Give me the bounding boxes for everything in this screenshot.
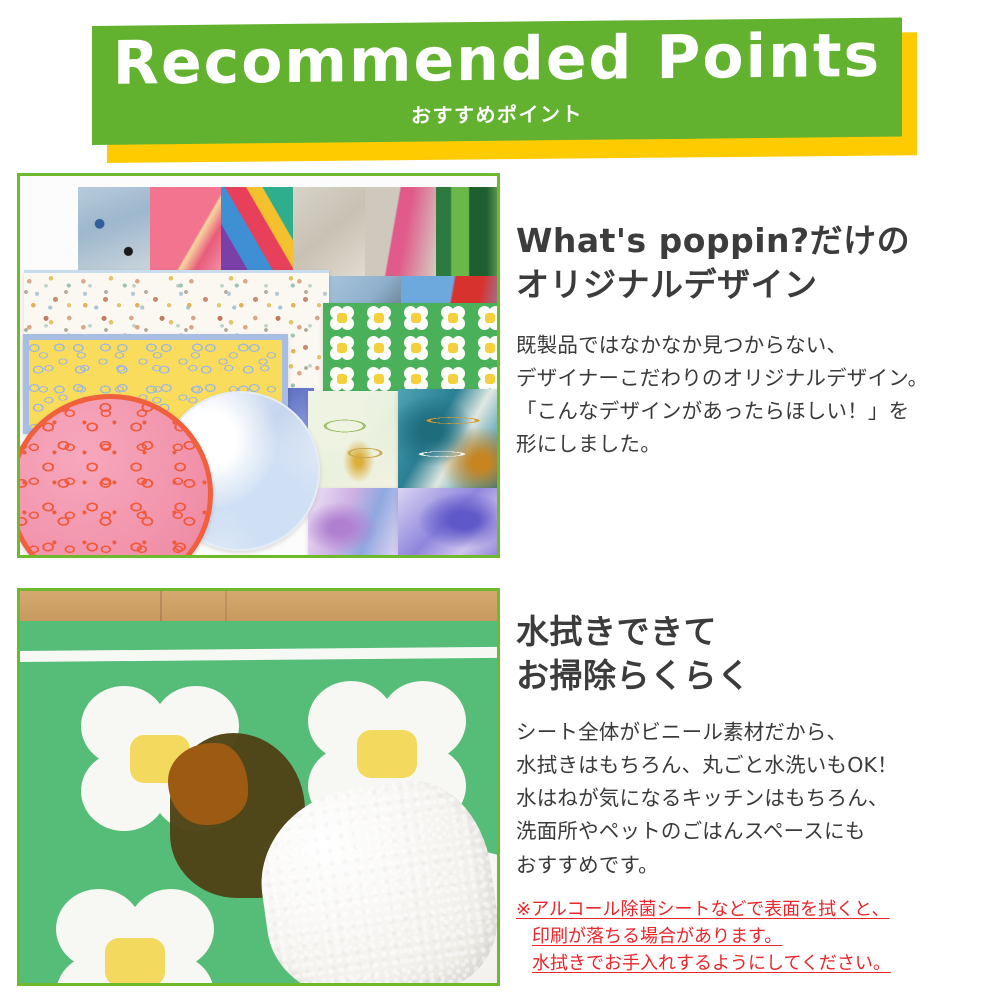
flower-cell <box>397 333 434 363</box>
coffee-spill-highlight <box>168 743 248 825</box>
banner-text-group: Recommended Points おすすめポイント <box>92 18 902 145</box>
flower-cell <box>360 364 397 394</box>
flower-icon <box>404 306 428 330</box>
wipe-scene-canvas <box>20 591 497 983</box>
spacer <box>516 307 986 329</box>
wood-plank-seam <box>225 591 227 621</box>
spacer <box>516 882 986 896</box>
section-wipe-clean: 水拭きできて お掃除らくらく シート全体がビニール素材だから、 水拭きはもちろん… <box>0 588 1000 988</box>
flower-icon <box>478 306 501 330</box>
green-flower-pattern-sheet <box>323 303 500 394</box>
graffiti-sheet-5 <box>365 187 437 279</box>
pale-green-marble-sheet <box>308 391 400 491</box>
wipe-body-line-2: 水拭きはもちろん、丸ごと水洗いもOK！ <box>516 749 986 782</box>
wipe-text-column: 水拭きできて お掃除らくらく シート全体がビニール素材だから、 水拭きはもちろん… <box>516 610 986 978</box>
flower-cell <box>360 303 397 333</box>
flower-cell <box>471 333 500 363</box>
flower-icon <box>441 336 465 360</box>
mat-flower-icon <box>50 889 220 983</box>
design-body-line-2: デザイナーこだわりのオリジナルデザイン。 <box>516 362 986 395</box>
wipe-note-line-2: 印刷が落ちる場合があります。 <box>516 923 986 950</box>
flower-icon <box>330 306 354 330</box>
flower-icon <box>404 367 428 391</box>
flower-cell <box>434 303 471 333</box>
flower-icon <box>330 336 354 360</box>
spacer <box>516 698 986 716</box>
flower-cell <box>397 303 434 333</box>
pink-squiggle-round-mat <box>17 394 213 558</box>
flower-icon <box>367 336 391 360</box>
wipe-body-line-3: 水はねが気になるキッチンはもちろん、 <box>516 782 986 815</box>
design-text-column: What's poppin?だけの オリジナルデザイン 既製品ではなかなか見つか… <box>516 219 986 462</box>
purple-marble-sheet <box>308 488 400 558</box>
section-original-design: What's poppin?だけの オリジナルデザイン 既製品ではなかなか見つか… <box>0 173 1000 563</box>
wipe-note-line-1: ※アルコール除菌シートなどで表面を拭くと、 <box>516 896 986 923</box>
flower-icon <box>404 336 428 360</box>
graffiti-sheet-6 <box>436 187 500 279</box>
flower-cell <box>323 333 360 363</box>
blue-violet-marble-sheet <box>398 488 500 558</box>
design-heading-line-2: オリジナルデザイン <box>516 263 986 307</box>
flower-cell <box>323 303 360 333</box>
graffiti-sheet-row-top <box>78 187 500 279</box>
wipe-note-line-3: 水拭きでお手入れするようにしてください。 <box>516 950 986 977</box>
wipe-heading-line-2: お掃除らくらく <box>516 654 986 698</box>
teal-gold-marble-sheet <box>398 389 500 494</box>
design-body-line-1: 既製品ではなかなか見つからない、 <box>516 329 986 362</box>
flower-icon <box>367 367 391 391</box>
collage-canvas <box>20 176 497 555</box>
wipe-heading-line-1: 水拭きできて <box>516 610 986 654</box>
graffiti-sheet-1 <box>78 187 150 279</box>
wipe-body-line-5: おすすめです。 <box>516 849 986 882</box>
design-sheets-collage-photo <box>17 173 500 558</box>
graffiti-sheet-2 <box>150 187 222 279</box>
flower-icon <box>478 367 501 391</box>
recommended-points-header: Recommended Points おすすめポイント <box>0 0 1000 175</box>
design-heading-line-1: What's poppin?だけの <box>516 219 986 263</box>
wood-floor-strip <box>20 591 497 621</box>
wipe-body-line-4: 洗面所やペットのごはんスペースにも <box>516 815 986 848</box>
flower-cell <box>360 333 397 363</box>
graffiti-sheet-3 <box>221 187 293 279</box>
flower-icon <box>441 367 465 391</box>
wiping-spill-on-mat-photo <box>17 588 500 986</box>
banner-subtitle: おすすめポイント <box>411 98 583 129</box>
flower-icon <box>478 336 501 360</box>
banner-title: Recommended Points <box>113 26 881 94</box>
wood-plank-seam <box>160 591 162 621</box>
wipe-body-line-1: シート全体がビニール素材だから、 <box>516 716 986 749</box>
flower-cell <box>434 333 471 363</box>
design-body-line-3: 「こんなデザインがあったらほしい！」を <box>516 395 986 428</box>
flower-icon <box>330 367 354 391</box>
flower-cell <box>471 303 500 333</box>
flower-cell <box>323 364 360 394</box>
flower-grid <box>323 303 500 394</box>
design-body-line-4: 形にしました。 <box>516 428 986 461</box>
flower-icon <box>441 306 465 330</box>
flower-icon <box>367 306 391 330</box>
graffiti-sheet-4 <box>293 187 365 279</box>
